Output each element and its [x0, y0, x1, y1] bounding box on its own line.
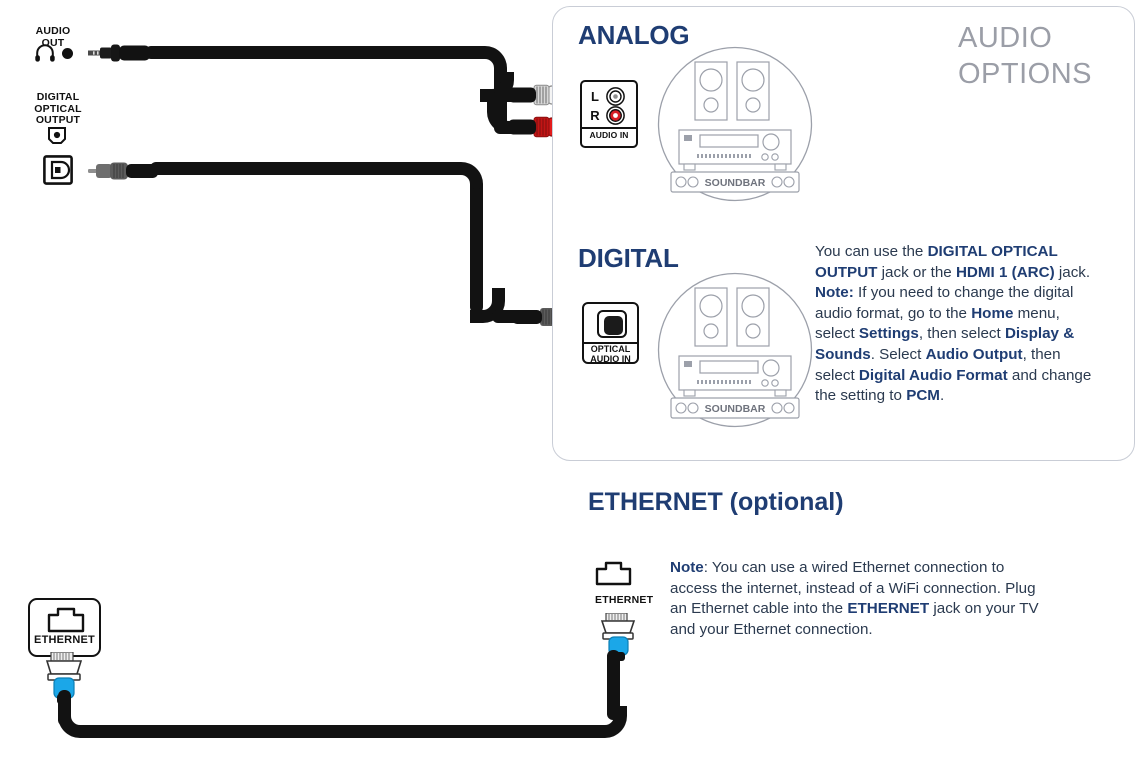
- analog-soundbar-label: SOUNDBAR: [705, 177, 766, 189]
- ethernet-rj45-icon: [47, 606, 85, 633]
- toslink-port-icon: [43, 155, 73, 185]
- digital-optical-audio-in-panel: OPTICAL AUDIO IN: [582, 302, 639, 364]
- optical-symbol-icon: [46, 124, 68, 146]
- diagram-page: AUDIO OUT DIGITAL OPTICAL OUTPUT: [0, 0, 1140, 761]
- rca-right-label: R: [588, 108, 602, 123]
- digital-instructions-text: You can use the DIGITAL OPTICAL OUTPUT j…: [815, 242, 1093, 407]
- optical-caption-line2: AUDIO IN: [584, 354, 637, 364]
- optical-audio-in-port-icon: [597, 310, 627, 338]
- rca-row-right: R: [588, 106, 625, 125]
- digital-optical-output-port-label: DIGITAL OPTICAL OUTPUT: [20, 92, 96, 127]
- analog-audio-in-caption: AUDIO IN: [582, 130, 636, 140]
- optical-caption-line1: OPTICAL: [584, 344, 637, 354]
- rca-left-label: L: [588, 89, 602, 104]
- ethernet-cable-horizontal: [80, 725, 605, 738]
- analog-audio-in-jack-panel: L R AUDIO IN: [580, 80, 638, 148]
- ethernet-section-title: ETHERNET (optional): [588, 488, 844, 517]
- ethernet-note-text: Note: You can use a wired Ethernet conne…: [670, 558, 1045, 640]
- audio-in-divider: [582, 127, 636, 129]
- rca-jack-white-icon: [606, 87, 625, 106]
- device-ethernet-port-label: ETHERNET: [595, 594, 641, 606]
- tv-ethernet-port: ETHERNET: [28, 598, 101, 657]
- tv-ethernet-port-label: ETHERNET: [30, 634, 99, 646]
- audio-out-jack-dot-icon: [62, 48, 73, 59]
- ethernet-rj45-icon: [595, 560, 632, 586]
- optical-port-inner-icon: [604, 316, 623, 335]
- analog-soundbar-illustration: SOUNDBAR: [657, 46, 813, 202]
- rca-row-left: L: [588, 87, 625, 106]
- optical-plug-left-icon: [88, 160, 158, 182]
- device-ethernet-port: ETHERNET: [595, 560, 641, 606]
- optical-cable-horizontal-top: [150, 162, 460, 175]
- digital-soundbar-illustration: SOUNDBAR: [657, 272, 813, 428]
- digital-soundbar-label: SOUNDBAR: [705, 403, 766, 415]
- rca-jack-red-icon: [606, 106, 625, 125]
- headphone-icon: [35, 44, 55, 62]
- digital-section-title: DIGITAL: [578, 243, 679, 274]
- analog-cable-horizontal-top: [145, 46, 485, 59]
- ethernet-cable-right-vertical: [607, 650, 620, 720]
- audio-options-watermark: AUDIO OPTIONS: [958, 20, 1128, 92]
- trs-35mm-plug-icon: [88, 43, 150, 63]
